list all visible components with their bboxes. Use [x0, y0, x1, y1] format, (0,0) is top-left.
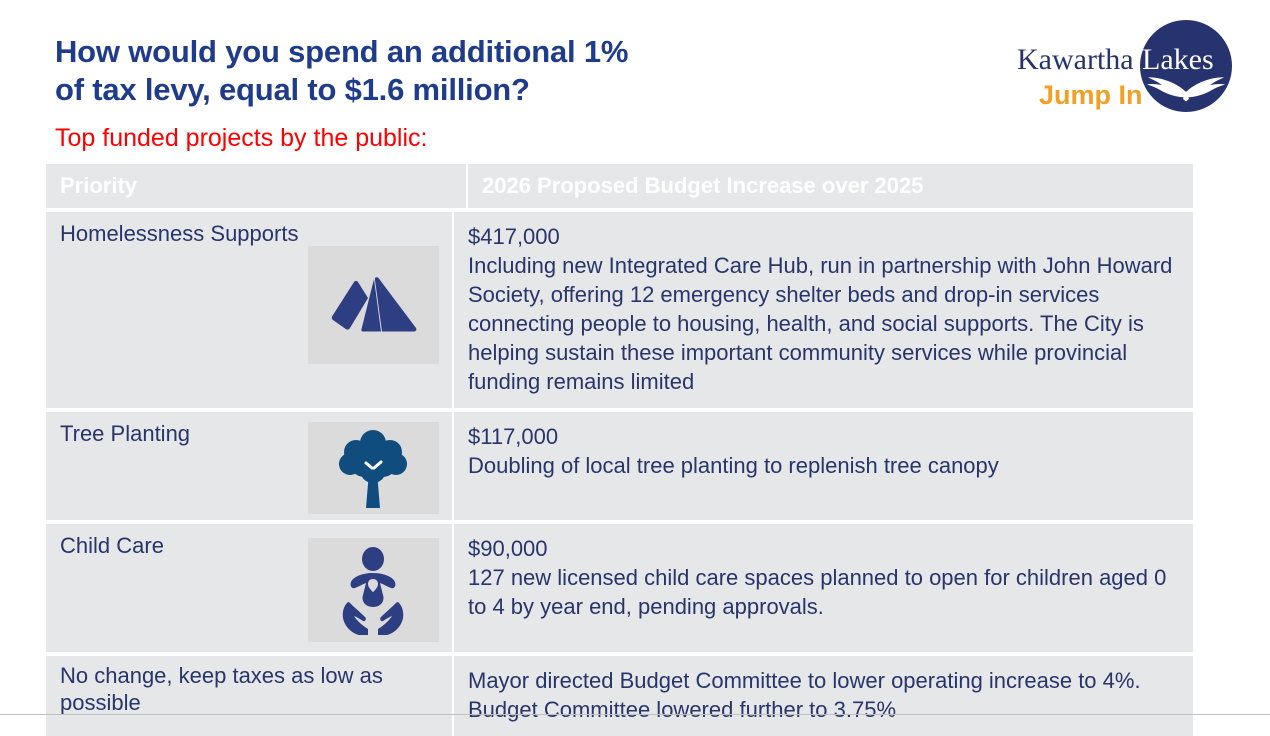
- table-header-row: Priority 2026 Proposed Budget Increase o…: [46, 164, 1193, 208]
- table-cell-priority: No change, keep taxes as low as possible: [46, 656, 452, 736]
- budget-detail: Doubling of local tree planting to reple…: [468, 451, 1179, 480]
- page-title: How would you spend an additional 1% of …: [55, 33, 815, 109]
- table-header-budget-increase: 2026 Proposed Budget Increase over 2025: [468, 164, 1193, 208]
- slide-header: How would you spend an additional 1% of …: [0, 0, 1270, 160]
- table-row: Child Care $90,000 127: [46, 524, 1193, 652]
- logo-tagline-jump-in: Jump In: [1039, 80, 1143, 111]
- footer-divider: [0, 714, 1270, 715]
- table-cell-budget: $417,000 Including new Integrated Care H…: [454, 212, 1193, 408]
- budget-detail: Including new Integrated Care Hub, run i…: [468, 251, 1179, 396]
- table-cell-priority: Tree Planting: [46, 412, 452, 520]
- table-cell-priority: Child Care: [46, 524, 452, 652]
- priority-label: Homelessness Supports: [60, 220, 440, 247]
- tree-icon: [308, 422, 439, 514]
- page-title-line-1: How would you spend an additional 1%: [55, 33, 815, 71]
- table-row: No change, keep taxes as low as possible…: [46, 656, 1193, 736]
- budget-amount: $90,000: [468, 534, 1179, 563]
- logo-word-lakes: Lakes: [1142, 43, 1214, 77]
- page-subtitle: Top funded projects by the public:: [55, 123, 427, 153]
- budget-amount: $417,000: [468, 222, 1179, 251]
- table-row: Homelessness Supports $417,000 Includ: [46, 212, 1193, 408]
- child-care-icon: [308, 538, 439, 642]
- table-cell-budget: $90,000 127 new licensed child care spac…: [454, 524, 1193, 652]
- table-row: Tree Planting: [46, 412, 1193, 520]
- table-header-priority: Priority: [46, 164, 466, 208]
- budget-detail: Mayor directed Budget Committee to lower…: [468, 666, 1179, 724]
- slide-root: How would you spend an additional 1% of …: [0, 0, 1270, 723]
- table-cell-budget: $117,000 Doubling of local tree planting…: [454, 412, 1193, 520]
- table-cell-priority: Homelessness Supports: [46, 212, 452, 408]
- priorities-table: Priority 2026 Proposed Budget Increase o…: [46, 164, 1193, 736]
- priority-label: No change, keep taxes as low as possible: [60, 662, 440, 716]
- budget-detail: 127 new licensed child care spaces plann…: [468, 563, 1179, 621]
- kawartha-lakes-logo: Kawartha Lakes Jump In: [1017, 20, 1232, 116]
- budget-amount: $117,000: [468, 422, 1179, 451]
- tent-icon: [308, 246, 439, 364]
- logo-word-kawartha: Kawartha: [1017, 43, 1134, 77]
- table-cell-budget: Mayor directed Budget Committee to lower…: [454, 656, 1193, 736]
- page-title-line-2: of tax levy, equal to $1.6 million?: [55, 71, 815, 109]
